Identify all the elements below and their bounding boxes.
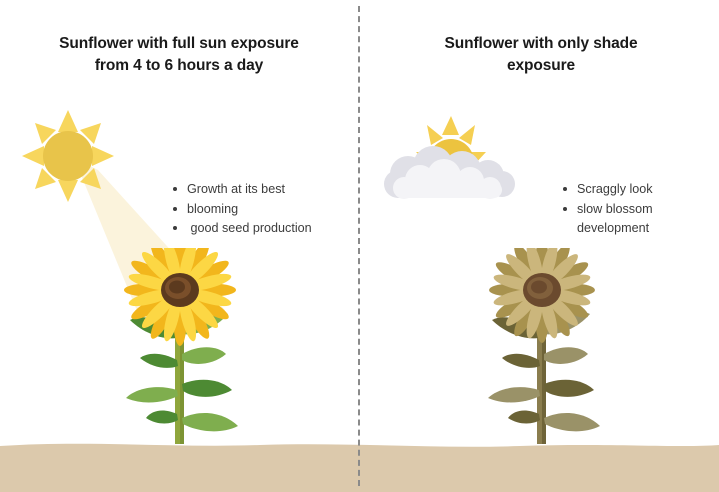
title-right-line2: exposure <box>380 55 702 77</box>
bullet-list-right: Scraggly look slow blossom development <box>560 180 710 239</box>
list-item: slow blossom development <box>560 200 710 239</box>
page-title-left: Sunflower with full sun exposure from 4 … <box>14 33 344 77</box>
sun-icon <box>20 108 116 204</box>
page-title-right: Sunflower with only shade exposure <box>380 33 702 77</box>
bullet-list-left: Growth at its best blooming good seed pr… <box>170 180 350 239</box>
list-item: Scraggly look <box>560 180 710 200</box>
sun-behind-cloud-icon <box>378 108 524 204</box>
sunflower-shaded-icon <box>482 248 612 448</box>
title-left-line2: from 4 to 6 hours a day <box>14 55 344 77</box>
panel-divider <box>358 6 360 486</box>
list-item: good seed production <box>170 219 350 239</box>
sunflower-healthy-icon <box>120 248 250 448</box>
list-item: blooming <box>170 200 350 220</box>
infographic-canvas: Sunflower with full sun exposure from 4 … <box>0 0 719 492</box>
list-item: Growth at its best <box>170 180 350 200</box>
title-right-line1: Sunflower with only shade <box>380 33 702 55</box>
title-left-line1: Sunflower with full sun exposure <box>14 33 344 55</box>
